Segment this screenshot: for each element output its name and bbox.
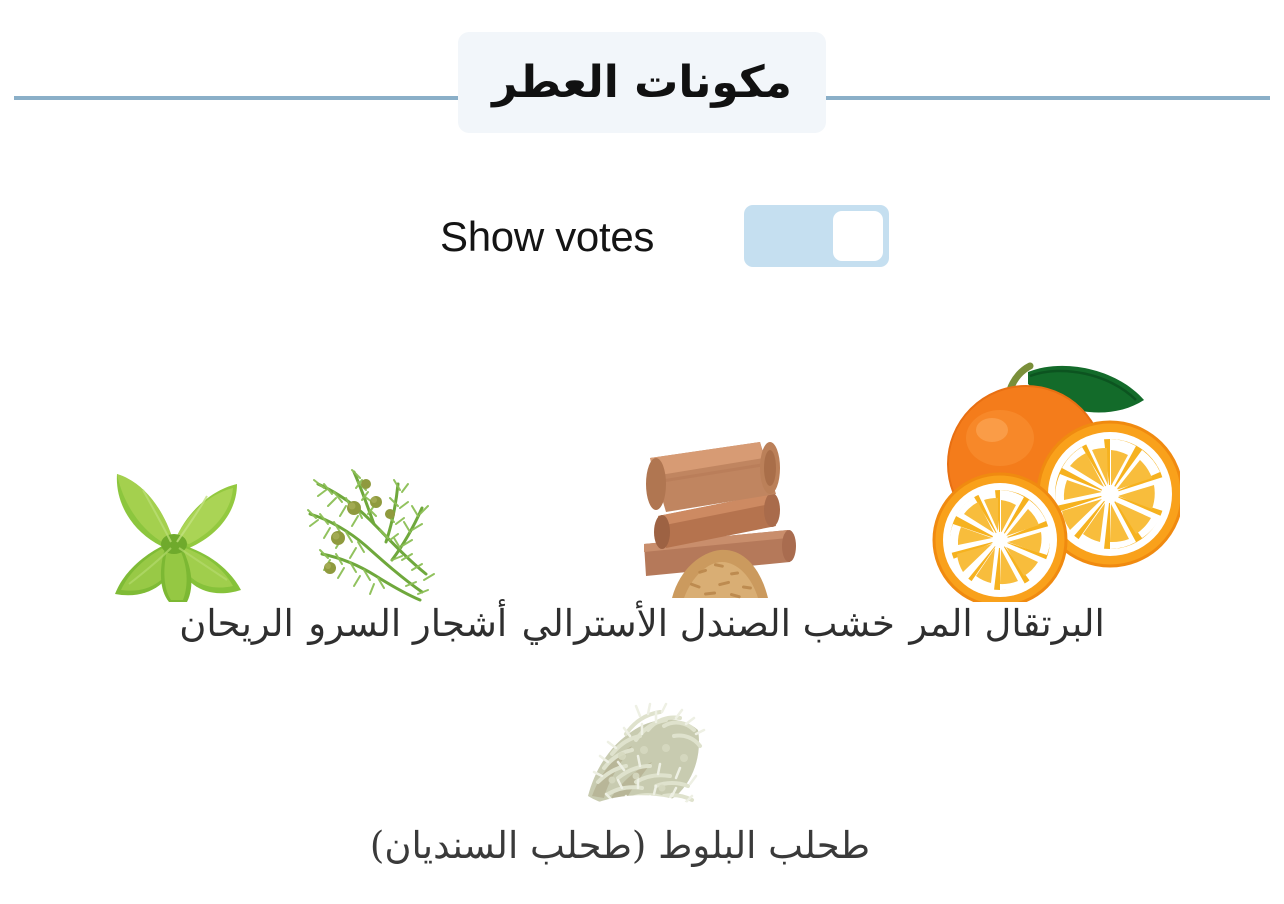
option-thumb-sandalwood[interactable] — [610, 420, 806, 602]
option-label-oakmoss: طحلب البلوط (طحلب السنديان) — [0, 827, 1240, 864]
show-votes-row: Show votes — [440, 198, 900, 276]
bitter-orange-image — [930, 354, 1180, 602]
option-thumb-basil[interactable] — [103, 468, 244, 602]
basil-leaves-image — [103, 468, 244, 602]
cypress-foliage-image — [302, 462, 441, 602]
toggle-knob[interactable] — [833, 211, 883, 261]
ingredient-option-oakmoss: طحلب البلوط (طحلب السنديان) — [0, 695, 1284, 885]
show-votes-toggle[interactable] — [744, 205, 889, 267]
show-votes-label: Show votes — [440, 216, 654, 258]
page-header: مكونات العطر — [0, 0, 1284, 150]
oakmoss-lichen-image — [578, 700, 706, 816]
option-thumb-bitter-orange[interactable] — [930, 354, 1180, 602]
sandalwood-logs-image — [610, 420, 806, 602]
ingredient-labels-row: البرتقال المر خشب الصندل الأسترالي أشجار… — [0, 605, 1284, 663]
page-title: مكونات العطر — [492, 61, 792, 105]
ingredient-options: البرتقال المر خشب الصندل الأسترالي أشجار… — [0, 340, 1284, 900]
option-label-cypress: أشجار السرو — [308, 602, 507, 645]
option-thumb-cypress[interactable] — [302, 462, 441, 602]
option-thumb-oakmoss[interactable] — [578, 700, 706, 816]
option-label-basil: الريحان — [179, 602, 294, 645]
option-label-sandalwood: خشب الصندل الأسترالي — [522, 602, 895, 645]
ingredient-thumbnails-row — [0, 340, 1284, 602]
page-title-chip: مكونات العطر — [458, 32, 826, 133]
option-label-bitter-orange: البرتقال المر — [909, 602, 1104, 645]
